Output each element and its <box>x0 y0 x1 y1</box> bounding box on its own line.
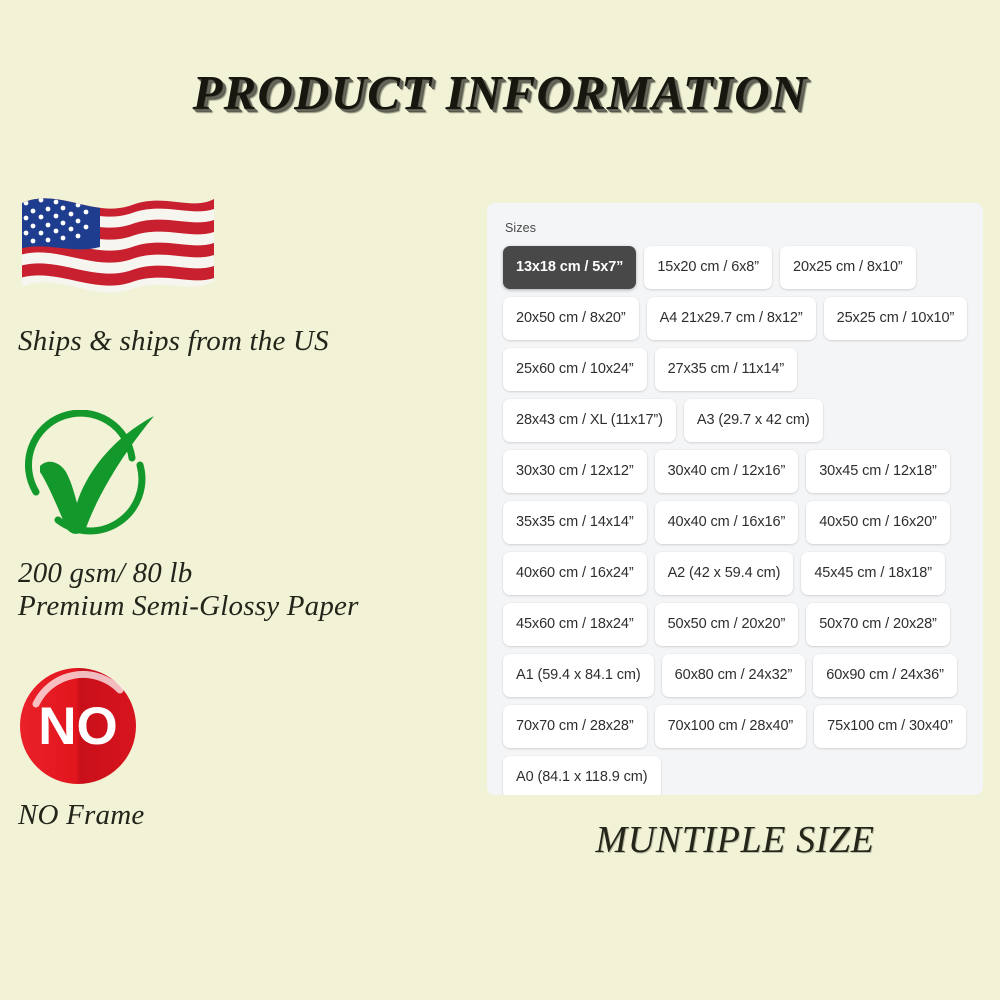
size-option-chip[interactable]: 40x60 cm / 16x24” <box>503 552 647 595</box>
page-title: PRODUCT INFORMATION <box>0 64 1000 121</box>
size-option-chip[interactable]: 45x60 cm / 18x24” <box>503 603 647 646</box>
size-option-chip[interactable]: 30x40 cm / 12x16” <box>655 450 799 493</box>
size-option-chip[interactable]: 35x35 cm / 14x14” <box>503 501 647 544</box>
size-option-chip[interactable]: 28x43 cm / XL (11x17”) <box>503 399 676 442</box>
size-option-chip[interactable]: 27x35 cm / 11x14” <box>655 348 798 391</box>
size-option-chip[interactable]: A2 (42 x 59.4 cm) <box>655 552 794 595</box>
feature-caption-gsm: 200 gsm/ 80 lb <box>0 557 480 590</box>
feature-caption-paper: Premium Semi-Glossy Paper <box>0 590 480 623</box>
size-option-chip[interactable]: 40x50 cm / 16x20” <box>806 501 950 544</box>
size-option-chip[interactable]: 60x90 cm / 24x36” <box>813 654 957 697</box>
size-option-chip[interactable]: A3 (29.7 x 42 cm) <box>684 399 823 442</box>
features-column: Ships & ships from the US 200 gsm/ 80 lb… <box>0 185 480 832</box>
size-option-chip[interactable]: 25x60 cm / 10x24” <box>503 348 647 391</box>
size-option-chip[interactable]: 75x100 cm / 30x40” <box>814 705 966 748</box>
size-option-chip[interactable]: A1 (59.4 x 84.1 cm) <box>503 654 654 697</box>
feature-paper-quality: 200 gsm/ 80 lb Premium Semi-Glossy Paper <box>0 410 480 623</box>
size-option-chip[interactable]: 50x50 cm / 20x20” <box>655 603 799 646</box>
size-option-chip[interactable]: 20x50 cm / 8x20” <box>503 297 639 340</box>
size-option-chip[interactable]: A0 (84.1 x 118.9 cm) <box>503 756 661 795</box>
size-option-chip[interactable]: 40x40 cm / 16x16” <box>655 501 799 544</box>
multiple-size-caption: MUNTIPLE SIZE <box>487 818 983 862</box>
size-option-chip[interactable]: 30x30 cm / 12x12” <box>503 450 647 493</box>
size-option-chip[interactable]: 25x25 cm / 10x10” <box>824 297 968 340</box>
us-flag-icon <box>14 185 219 315</box>
green-check-icon <box>14 410 174 545</box>
sizes-label: Sizes <box>505 221 983 235</box>
no-badge-text: NO <box>38 697 118 756</box>
sizes-panel: Sizes 13x18 cm / 5x7”15x20 cm / 6x8”20x2… <box>487 203 983 795</box>
size-option-chip[interactable]: 20x25 cm / 8x10” <box>780 246 916 289</box>
feature-ships-from-us: Ships & ships from the US <box>0 185 480 358</box>
size-option-chip[interactable]: A4 21x29.7 cm / 8x12” <box>647 297 816 340</box>
feature-caption-ships: Ships & ships from the US <box>0 325 480 358</box>
size-option-chip[interactable]: 15x20 cm / 6x8” <box>644 246 772 289</box>
size-options-grid[interactable]: 13x18 cm / 5x7”15x20 cm / 6x8”20x25 cm /… <box>503 246 971 795</box>
size-option-chip[interactable]: 30x45 cm / 12x18” <box>806 450 950 493</box>
feature-no-frame: NO NO Frame <box>0 664 480 832</box>
size-option-chip[interactable]: 50x70 cm / 20x28” <box>806 603 950 646</box>
size-option-chip[interactable]: 70x70 cm / 28x28” <box>503 705 647 748</box>
size-option-chip[interactable]: 13x18 cm / 5x7” <box>503 246 636 289</box>
feature-caption-no-frame: NO Frame <box>0 799 480 832</box>
size-option-chip[interactable]: 60x80 cm / 24x32” <box>662 654 806 697</box>
size-option-chip[interactable]: 45x45 cm / 18x18” <box>801 552 945 595</box>
size-option-chip[interactable]: 70x100 cm / 28x40” <box>655 705 807 748</box>
no-frame-badge-icon: NO <box>16 664 141 789</box>
